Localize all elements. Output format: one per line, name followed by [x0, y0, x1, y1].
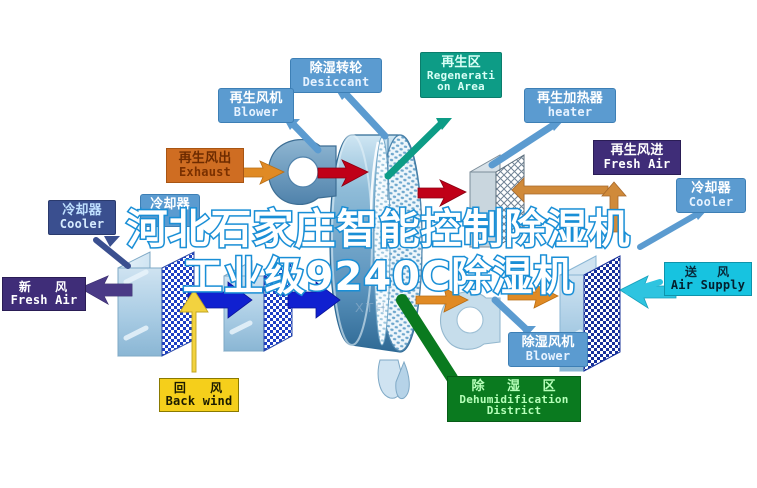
faint-center-mark: XTH [355, 300, 387, 315]
label-back-wind[interactable]: 回 风 Back wind [159, 378, 239, 412]
label-back-wind-cn: 回 风 [162, 382, 236, 395]
label-fresh-air-intake-cn: 新 风 [7, 281, 81, 294]
dehumidifier-diagram: 除湿转轮 Desiccant 再生风机 Blower 再生区 Regenerat… [0, 0, 757, 488]
label-dehumidification-district[interactable]: 除 湿 区 Dehumidification District [447, 376, 581, 422]
label-cooler-right[interactable]: 冷却器 Cooler [676, 178, 746, 213]
label-regen-heater-en: heater [527, 106, 613, 119]
label-cooler-right-en: Cooler [679, 196, 743, 209]
label-regen-blower[interactable]: 再生风机 Blower [218, 88, 294, 123]
label-back-wind-en: Back wind [162, 395, 236, 408]
label-regen-fresh-air-en: Fresh Air [596, 158, 678, 171]
label-regen-blower-en: Blower [221, 106, 291, 119]
label-regen-exhaust[interactable]: 再生风出 Exhaust [166, 148, 244, 183]
regen-return-arrow [418, 180, 466, 206]
label-cooler-mid-cn: 冷却器 [143, 198, 197, 212]
label-regeneration-area-cn: 再生区 [423, 56, 499, 70]
label-regeneration-area-en2: on Area [423, 81, 499, 93]
label-process-blower[interactable]: 除湿风机 Blower [508, 332, 588, 367]
label-regen-fresh-air[interactable]: 再生风进 Fresh Air [593, 140, 681, 175]
label-regen-exhaust-en: Exhaust [169, 166, 241, 179]
label-desiccant-rotor[interactable]: 除湿转轮 Desiccant [290, 58, 382, 93]
label-regen-heater-cn: 再生加热器 [527, 92, 613, 106]
label-regen-blower-cn: 再生风机 [221, 92, 291, 106]
label-air-supply-cn: 送 风 [667, 266, 749, 279]
label-regen-fresh-air-cn: 再生风进 [596, 144, 678, 158]
label-cooler-right-cn: 冷却器 [679, 182, 743, 196]
label-cooler-left-en: Cooler [51, 218, 113, 231]
label-cooler-left-cn: 冷却器 [51, 204, 113, 218]
label-regeneration-area[interactable]: 再生区 Regenerati on Area [420, 52, 502, 98]
label-desiccant-rotor-cn: 除湿转轮 [293, 62, 379, 76]
label-cooler-left[interactable]: 冷却器 Cooler [48, 200, 116, 235]
label-regen-heater[interactable]: 再生加热器 heater [524, 88, 616, 123]
label-dehum-district-en2: District [450, 405, 578, 417]
label-desiccant-rotor-en: Desiccant [293, 76, 379, 89]
label-cooler-mid[interactable]: 冷却器 [140, 194, 200, 227]
label-air-supply-en: Air Supply [667, 279, 749, 292]
label-fresh-air-intake[interactable]: 新 风 Fresh Air [2, 277, 86, 311]
label-air-supply[interactable]: 送 风 Air Supply [664, 262, 752, 296]
label-fresh-air-intake-en: Fresh Air [7, 294, 81, 307]
label-process-blower-cn: 除湿风机 [511, 336, 585, 350]
regen-heater-block [470, 155, 524, 247]
label-regen-exhaust-cn: 再生风出 [169, 152, 241, 166]
heater-feed-arrow [512, 178, 608, 202]
label-dehum-district-cn: 除 湿 区 [450, 380, 578, 394]
process-out-arrow2 [508, 284, 558, 308]
label-process-blower-en: Blower [511, 350, 585, 363]
